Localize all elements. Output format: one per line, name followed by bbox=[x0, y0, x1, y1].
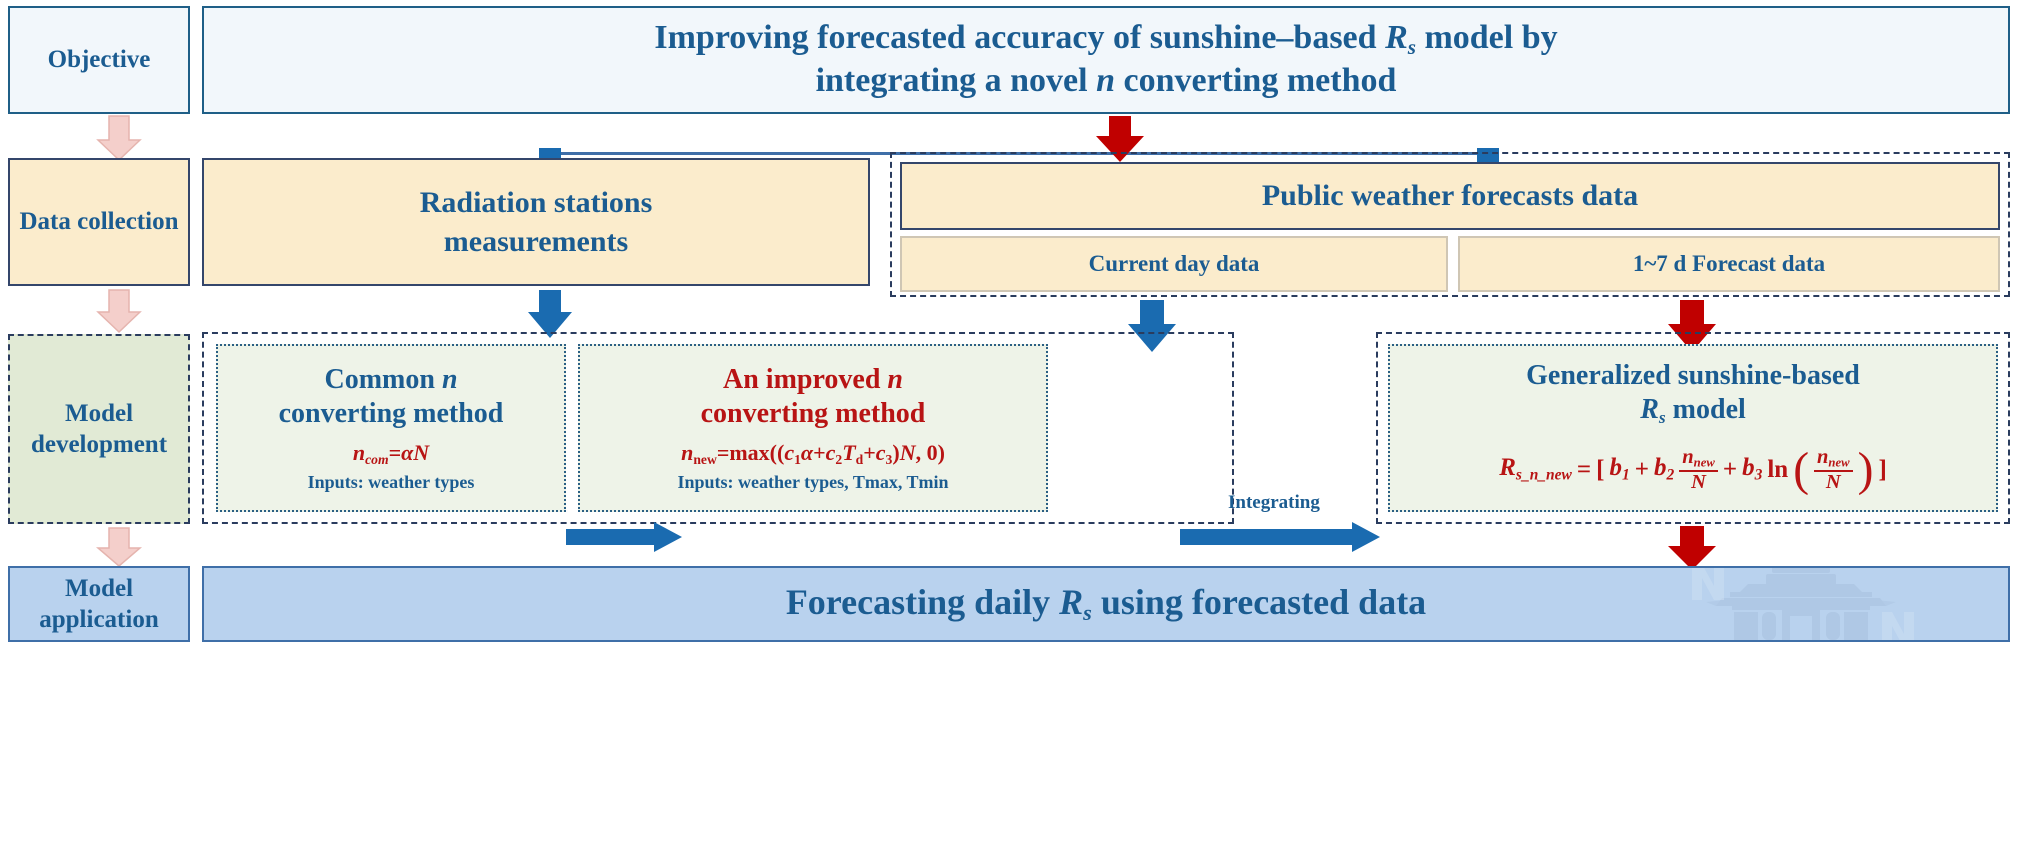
forecast-data-box: 1~7 d Forecast data bbox=[1458, 236, 2000, 292]
model-application-text: Forecasting daily Rs using forecasted da… bbox=[786, 581, 1426, 626]
improved-method-box: An improved n converting method nnew=max… bbox=[578, 344, 1048, 512]
model-application-text-a: Forecasting daily bbox=[786, 582, 1059, 622]
radiation-stations-line1: Radiation stations bbox=[420, 183, 653, 222]
objective-n-symbol: n bbox=[1096, 62, 1115, 99]
pink-arrow-objective-to-data bbox=[98, 116, 148, 162]
objective-title-line1: Improving forecasted accuracy of sunshin… bbox=[654, 17, 1557, 60]
generalized-model-title-line2: Rs model bbox=[1640, 393, 1746, 429]
application-rs-symbol: Rs bbox=[1059, 582, 1092, 622]
objective-title-part-c: integrating a novel bbox=[816, 62, 1096, 99]
stage-label-data-collection-text: Data collection bbox=[20, 206, 179, 237]
radiation-stations-line2: measurements bbox=[444, 222, 628, 261]
objective-title-part-b: model by bbox=[1416, 19, 1558, 56]
stage-label-model-development: Model development bbox=[8, 334, 190, 524]
pink-arrow-model-to-application bbox=[98, 528, 148, 568]
radiation-stations-box: Radiation stations measurements bbox=[202, 158, 870, 286]
common-method-inputs: Inputs: weather types bbox=[308, 472, 475, 493]
improved-method-title-line2: converting method bbox=[701, 397, 926, 431]
blue-arrow-integrating bbox=[1180, 522, 1380, 552]
blue-arrow-radiation-to-calibration bbox=[528, 290, 572, 338]
forecast-data-label: 1~7 d Forecast data bbox=[1633, 251, 1825, 277]
stage-label-model-development-text: Model development bbox=[10, 398, 188, 461]
model-application-box: Forecasting daily Rs using forecasted da… bbox=[202, 566, 2010, 642]
pink-arrow-data-to-model bbox=[98, 290, 148, 334]
public-forecasts-box: Public weather forecasts data bbox=[900, 162, 2000, 230]
blue-arrow-updated bbox=[566, 522, 682, 552]
common-method-box: Common n converting method ncom=αN Input… bbox=[216, 344, 566, 512]
objective-rs-symbol: Rs bbox=[1385, 19, 1416, 56]
stage-label-data-collection: Data collection bbox=[8, 158, 190, 286]
flowchart-diagram: Objective Improving forecasted accuracy … bbox=[0, 0, 2024, 848]
generalized-model-title-line1: Generalized sunshine-based bbox=[1526, 359, 1860, 393]
improved-method-n-symbol: n bbox=[887, 364, 903, 395]
common-method-formula: ncom=αN bbox=[353, 440, 429, 468]
common-method-title-line1: Common n bbox=[324, 363, 457, 397]
red-arrow-model-to-application bbox=[1668, 526, 1716, 570]
stage-label-model-application: Model application bbox=[8, 566, 190, 642]
public-forecasts-label: Public weather forecasts data bbox=[1262, 179, 1638, 213]
common-method-n-symbol: n bbox=[442, 364, 458, 395]
current-day-data-label: Current day data bbox=[1089, 251, 1260, 277]
common-method-title-line2: converting method bbox=[279, 397, 504, 431]
improved-method-formula: nnew=max((c1α+c2Td+c3)N, 0) bbox=[681, 440, 945, 468]
current-day-data-box: Current day data bbox=[900, 236, 1448, 292]
generalized-model-box: Generalized sunshine-based Rs model Rs_n… bbox=[1388, 344, 1998, 512]
objective-title-part-d: converting method bbox=[1115, 62, 1396, 99]
stage-label-objective: Objective bbox=[8, 6, 190, 114]
objective-title-box: Improving forecasted accuracy of sunshin… bbox=[202, 6, 2010, 114]
improved-method-title-line1: An improved n bbox=[723, 363, 903, 397]
integrating-arrow-label: Integrating bbox=[1228, 492, 1320, 514]
generalized-model-formula: Rs_n_new=[ b1+b2 nnew N +b3 ln ( nnew N … bbox=[1499, 443, 1887, 497]
model-application-text-b: using forecasted data bbox=[1092, 582, 1426, 622]
objective-title-line2: integrating a novel n converting method bbox=[816, 60, 1397, 103]
university-gate-watermark-icon bbox=[1686, 566, 1916, 642]
stage-label-objective-text: Objective bbox=[48, 46, 151, 74]
improved-method-inputs: Inputs: weather types, Tmax, Tmin bbox=[677, 472, 948, 493]
stage-label-model-application-text: Model application bbox=[10, 573, 188, 636]
objective-title-part-a: Improving forecasted accuracy of sunshin… bbox=[654, 19, 1385, 56]
